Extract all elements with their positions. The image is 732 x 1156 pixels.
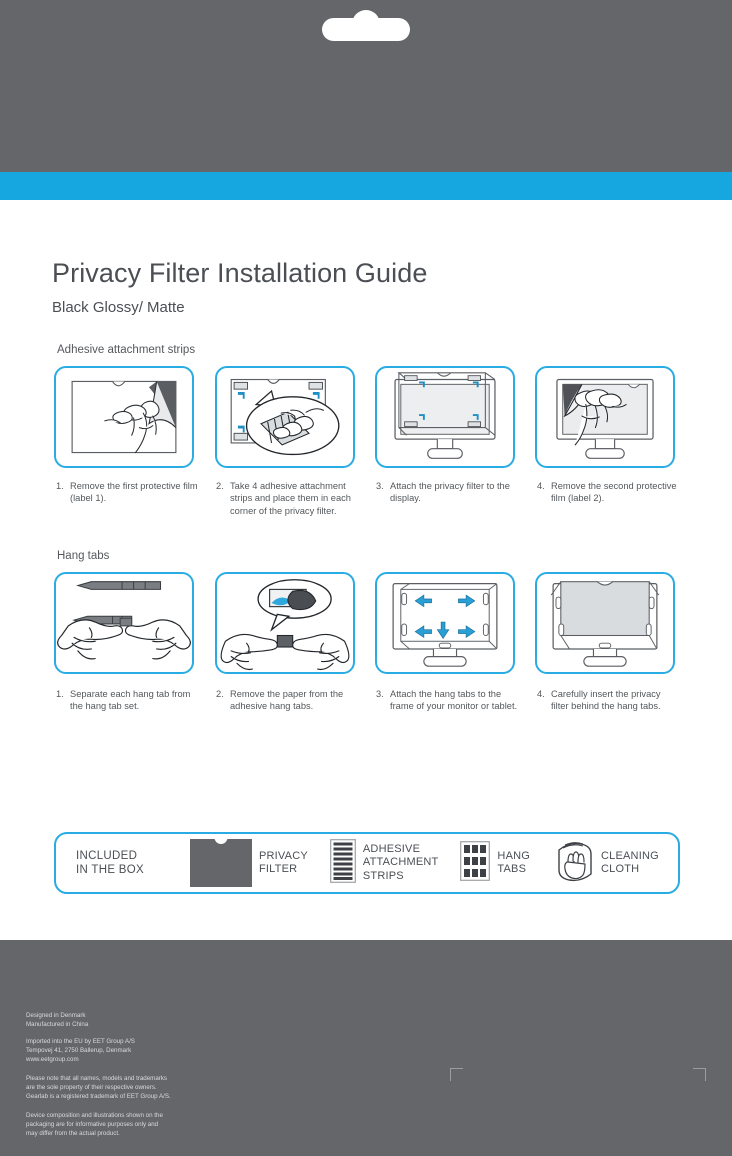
label-line2: TABS [497,863,530,876]
step-caption: 2. Remove the paper from the adhesive ha… [216,688,358,713]
step-number: 4. [537,480,551,492]
package-artwork: Privacy Filter Installation Guide Black … [0,0,732,1156]
step-number: 2. [216,688,230,700]
illustration-panel-a1 [54,366,194,468]
crop-mark-left-icon [450,1068,463,1081]
hang-tabs-icon [460,841,490,886]
step-caption: 4. Carefully insert the privacy filter b… [537,688,679,713]
included-item-adhesive-strips: ADHESIVE ATTACHMENT STRIPS [330,839,439,888]
footer-origin: Designed in Denmark Manufactured in Chin… [26,1012,88,1030]
package-header [0,0,732,172]
included-item-label: PRIVACY FILTER [259,850,308,876]
adhesive-strips-icon [330,839,356,888]
label-line2: FILTER [259,863,308,876]
step-text: Take 4 adhesive attachment strips and pl… [216,480,358,517]
accent-band [0,172,732,200]
illustration-panel-b2 [215,572,355,674]
step-text: Separate each hang tab from the hang tab… [56,688,198,713]
footer-importer: Imported into the EU by EET Group A/S Te… [26,1038,135,1064]
step-number: 4. [537,688,551,700]
footer-trademark-notice: Please note that all names, models and t… [26,1075,171,1101]
included-item-label: CLEANING CLOTH [601,850,659,876]
step-caption: 3. Attach the privacy filter to the disp… [376,480,518,505]
privacy-filter-icon [190,839,252,887]
included-box-title-line2: IN THE BOX [76,863,184,877]
step-caption: 3. Attach the hang tabs to the frame of … [376,688,518,713]
step-number: 3. [376,688,390,700]
section-label-adhesive: Adhesive attachment strips [57,344,195,356]
included-box-title: INCLUDED IN THE BOX [76,849,184,878]
step-text: Carefully insert the privacy filter behi… [537,688,679,713]
step-text: Attach the hang tabs to the frame of you… [376,688,518,713]
step-number: 1. [56,480,70,492]
euro-hang-hole-icon [352,10,380,38]
footer-disclaimer: Device composition and illustrations sho… [26,1112,163,1138]
label-line3: STRIPS [363,870,439,883]
included-item-privacy-filter: PRIVACY FILTER [190,839,308,887]
included-item-hang-tabs: HANG TABS [460,841,530,886]
step-text: Remove the second protective film (label… [537,480,679,505]
label-line1: CLEANING [601,850,659,863]
included-box-title-line1: INCLUDED [76,849,184,863]
step-caption: 2. Take 4 adhesive attachment strips and… [216,480,358,517]
illustration-panel-a4 [535,366,675,468]
illustration-panel-b1 [54,572,194,674]
label-line1: PRIVACY [259,850,308,863]
section-label-hangtabs: Hang tabs [57,550,109,562]
step-caption: 4. Remove the second protective film (la… [537,480,679,505]
step-caption: 1. Separate each hang tab from the hang … [56,688,198,713]
label-line2: ATTACHMENT [363,856,439,869]
illustration-panel-b3 [375,572,515,674]
step-text: Attach the privacy filter to the display… [376,480,518,505]
label-line1: ADHESIVE [363,843,439,856]
illustration-panel-a3 [375,366,515,468]
included-in-the-box-panel: INCLUDED IN THE BOX PRIVACY FILTER [54,832,680,894]
included-item-label: HANG TABS [497,850,530,876]
included-item-label: ADHESIVE ATTACHMENT STRIPS [363,843,439,883]
step-text: Remove the paper from the adhesive hang … [216,688,358,713]
included-item-cleaning-cloth: CLEANING CLOTH [554,840,659,887]
label-line1: HANG [497,850,530,863]
instruction-card: Privacy Filter Installation Guide Black … [0,200,732,940]
step-number: 3. [376,480,390,492]
illustration-panel-b4 [535,572,675,674]
illustration-panel-a2 [215,366,355,468]
step-caption: 1. Remove the first protective film (lab… [56,480,198,505]
cleaning-cloth-icon [554,840,594,887]
crop-mark-right-icon [693,1068,706,1081]
page-subtitle: Black Glossy/ Matte [52,299,185,316]
step-text: Remove the first protective film (label … [56,480,198,505]
page-title: Privacy Filter Installation Guide [52,258,427,289]
step-number: 2. [216,480,230,492]
label-line2: CLOTH [601,863,659,876]
step-number: 1. [56,688,70,700]
